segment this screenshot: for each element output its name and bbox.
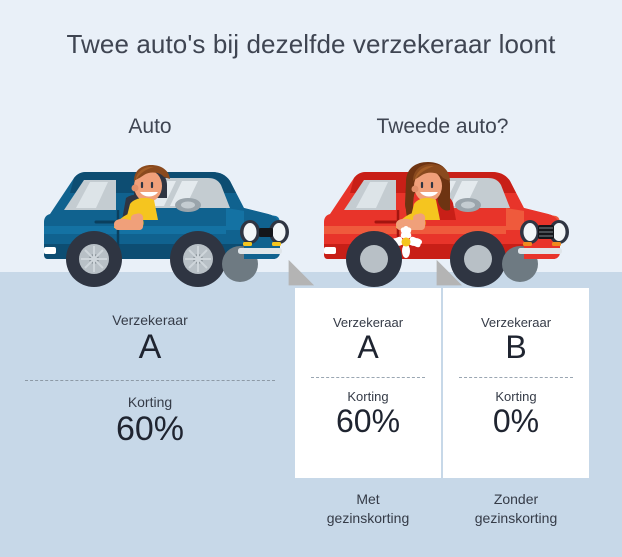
card-divider bbox=[311, 377, 425, 378]
panel-divider bbox=[25, 380, 275, 381]
discount-label: Korting bbox=[295, 389, 441, 404]
caption-other-insurer: Zonder gezinskorting bbox=[441, 490, 591, 528]
column-heading-second-car: Tweede auto? bbox=[295, 115, 590, 139]
option-card-other-insurer[interactable]: Verzekeraar B Korting 0% bbox=[443, 288, 589, 478]
caption-line-1: Met bbox=[293, 490, 443, 509]
infographic-canvas: Twee auto's bij dezelfde verzekeraar loo… bbox=[0, 0, 622, 557]
page-title: Twee auto's bij dezelfde verzekeraar loo… bbox=[0, 29, 622, 60]
card-divider bbox=[459, 377, 573, 378]
caption-same-insurer: Met gezinskorting bbox=[293, 490, 443, 528]
caption-line-2: gezinskorting bbox=[293, 509, 443, 528]
insurer-label: Verzekeraar bbox=[295, 315, 441, 330]
insurer-label: Verzekeraar bbox=[25, 312, 275, 328]
insurer-value: B bbox=[443, 330, 589, 365]
column-heading-first-car: Auto bbox=[25, 115, 275, 139]
discount-value: 60% bbox=[25, 411, 275, 448]
insurer-value: A bbox=[295, 330, 441, 365]
discount-label: Korting bbox=[443, 389, 589, 404]
blue-car-with-man-icon bbox=[30, 148, 290, 298]
existing-policy-panel: Verzekeraar A Korting 60% bbox=[25, 312, 275, 447]
discount-value: 0% bbox=[443, 404, 589, 439]
insurer-label: Verzekeraar bbox=[443, 315, 589, 330]
caption-line-1: Zonder bbox=[441, 490, 591, 509]
option-card-same-insurer[interactable]: Verzekeraar A Korting 60% bbox=[295, 288, 441, 478]
discount-value: 60% bbox=[295, 404, 441, 439]
caption-line-2: gezinskorting bbox=[441, 509, 591, 528]
discount-label: Korting bbox=[25, 394, 275, 410]
insurer-value: A bbox=[25, 329, 275, 366]
